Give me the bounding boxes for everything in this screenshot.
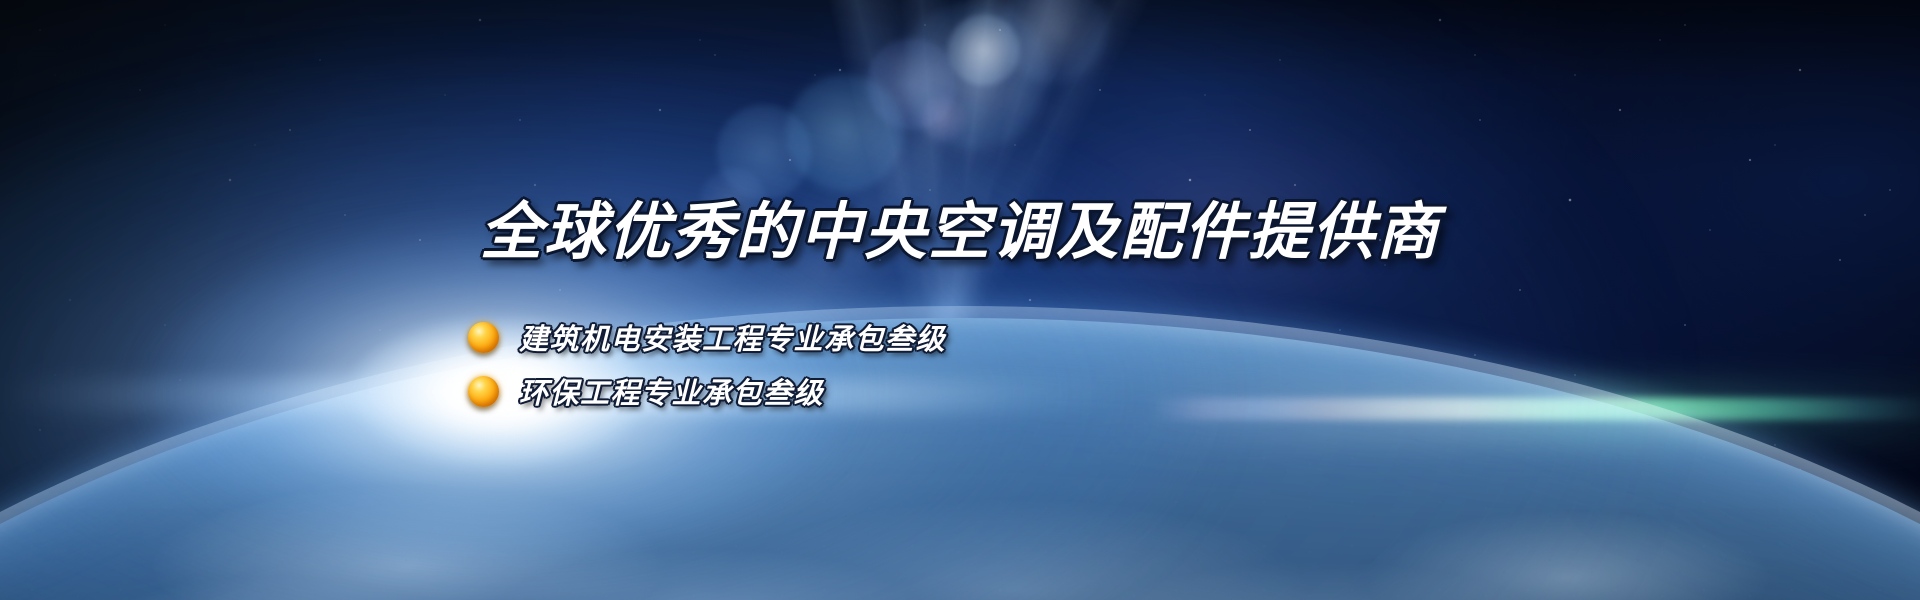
- hero-banner: 全球优秀的中央空调及配件提供商 建筑机电安装工程专业承包叁级 环保工程专业承包叁…: [0, 0, 1920, 600]
- list-item: 建筑机电安装工程专业承包叁级: [468, 310, 946, 364]
- page-title: 全球优秀的中央空调及配件提供商: [0, 196, 1920, 269]
- list-item-label: 建筑机电安装工程专业承包叁级: [519, 316, 946, 358]
- bullet-dot-icon: [468, 376, 499, 407]
- qualification-list: 建筑机电安装工程专业承包叁级 环保工程专业承包叁级: [468, 310, 946, 418]
- banner-content: 全球优秀的中央空调及配件提供商 建筑机电安装工程专业承包叁级 环保工程专业承包叁…: [0, 0, 1920, 600]
- bullet-dot-icon: [468, 322, 499, 353]
- list-item: 环保工程专业承包叁级: [468, 364, 946, 418]
- list-item-label: 环保工程专业承包叁级: [519, 370, 824, 412]
